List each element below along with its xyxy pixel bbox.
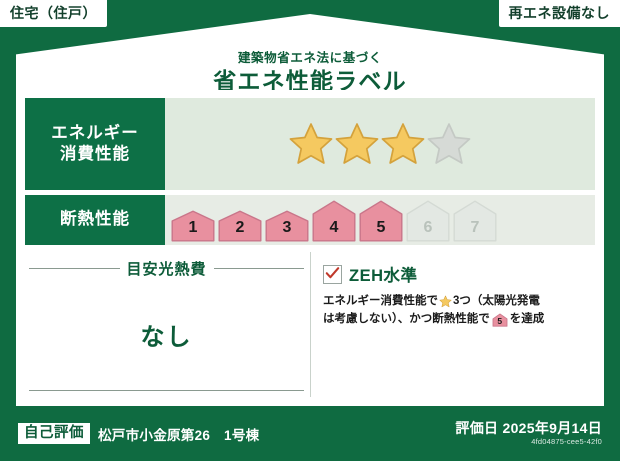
utility-cost-heading: 目安光熱費 [127,258,207,279]
insulation-level-7: 7 [453,200,497,242]
header-text-block: 建築物省エネ法に基づく 省エネ性能ラベル [16,52,604,94]
star-icon-filled [333,121,381,167]
zeh-block: ZEH水準 エネルギー消費性能で 3つ （太陽光発電 は考慮しない）、かつ断熱性… [310,252,595,397]
footer-left: 自己評価 松戸市小金原第26 1号棟 [18,423,455,445]
house-icon [265,210,309,242]
label-id: 4fd04875-cee5-42f0 [455,438,602,447]
energy-performance-label-box: エネルギー 消費性能 [25,98,165,190]
energy-performance-label: 住宅（住戸） 再エネ設備なし 建築物省エネ法に基づく 省エネ性能ラベル エネルギ… [0,0,620,461]
zeh-desc-1-part1: エネルギー消費性能で [323,293,438,311]
house-icon [453,200,497,242]
house-icon [171,210,215,242]
main-panel: エネルギー 消費性能 断熱性能 1234567 目安光熱費 [16,90,604,406]
energy-performance-value [165,98,595,190]
check-icon [325,266,340,281]
insulation-level-icon-number: 5 [492,317,508,326]
star-icon-filled [287,121,335,167]
house-icon [312,200,356,242]
insulation-performance-value: 1234567 [165,195,595,245]
insulation-level-1: 1 [171,210,215,242]
insulation-label: 断熱性能 [60,209,130,230]
zeh-title: ZEH水準 [349,262,418,286]
energy-label-line1: エネルギー [51,123,139,144]
utility-cost-block: 目安光熱費 なし [25,252,310,397]
insulation-level-6: 6 [406,200,450,242]
insulation-level-scale: 1234567 [171,198,497,242]
star-icon [439,295,452,308]
house-icon [359,200,403,242]
insulation-level-2: 2 [218,210,262,242]
insulation-level-5: 5 [359,200,403,242]
rule-right [214,268,305,269]
zeh-checkbox[interactable] [323,265,342,284]
star-icon-empty [425,121,473,167]
rule-left [29,268,120,269]
zeh-title-row: ZEH水準 [323,262,591,286]
zeh-desc-2-part1: は考慮しない）、かつ断熱性能で [323,311,490,329]
utility-cost-heading-row: 目安光熱費 [29,258,304,279]
insulation-level-3: 3 [265,210,309,242]
zeh-description-line-1: エネルギー消費性能で 3つ （太陽光発電 [323,293,591,311]
badge-building-type: 住宅（住戸） [0,0,107,27]
insulation-level-4: 4 [312,200,356,242]
utility-cost-value: なし [29,279,304,390]
footer: 自己評価 松戸市小金原第26 1号棟 評価日 2025年9月14日 4fd048… [0,406,620,461]
zeh-description-line-2: は考慮しない）、かつ断熱性能で 5 を達成 [323,311,591,329]
utility-cost-bottom-rule [29,390,304,391]
star-icon-filled [379,121,427,167]
header-subtitle: 建築物省エネ法に基づく [16,52,604,66]
house-icon [406,200,450,242]
house-icon [218,210,262,242]
zeh-desc-2-part2: を達成 [510,311,545,329]
property-address: 松戸市小金原第26 1号棟 [98,424,259,444]
insulation-level-icon: 5 [492,313,508,327]
self-evaluation-badge: 自己評価 [18,423,90,445]
insulation-performance-label-box: 断熱性能 [25,195,165,245]
lower-section: 目安光熱費 なし ZEH水準 エネルギー消費性能で [25,252,595,397]
star-rating [288,121,472,167]
zeh-desc-1-part2: （太陽光発電 [471,293,540,311]
evaluation-date: 評価日 2025年9月14日 [455,420,602,436]
badge-renewable-equipment: 再エネ設備なし [499,0,620,27]
row-energy-performance: エネルギー 消費性能 [25,98,595,190]
row-insulation-performance: 断熱性能 1234567 [25,195,595,245]
footer-right: 評価日 2025年9月14日 4fd04875-cee5-42f0 [455,420,602,447]
zeh-desc-1-star-count: 3つ [453,293,471,311]
energy-label-line2: 消費性能 [60,144,130,165]
